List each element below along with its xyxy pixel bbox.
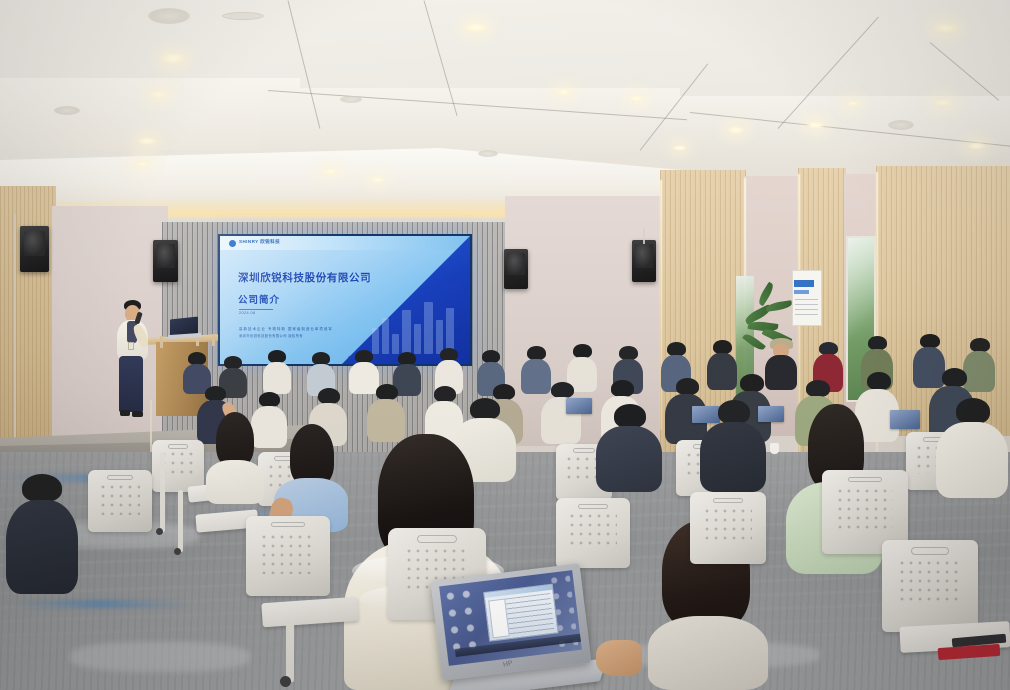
company-logo-icon bbox=[229, 240, 236, 247]
presenter-trousers bbox=[119, 356, 143, 412]
attendee-hair bbox=[740, 374, 764, 392]
downlight bbox=[845, 100, 861, 107]
training-chair[interactable] bbox=[882, 540, 978, 632]
wall-speaker bbox=[504, 249, 528, 289]
application-window[interactable] bbox=[483, 584, 558, 642]
chair-handle bbox=[911, 547, 949, 555]
attendee-hair bbox=[22, 474, 62, 502]
downlight bbox=[370, 177, 385, 183]
downlight bbox=[322, 168, 339, 175]
wall-speaker bbox=[632, 240, 656, 282]
slide-title: 深圳欣锐科技股份有限公司 bbox=[238, 270, 371, 285]
attendee-hair bbox=[470, 398, 500, 420]
wall-speaker bbox=[20, 226, 49, 272]
attendee-top bbox=[596, 426, 662, 492]
hand-on-keyboard bbox=[596, 640, 642, 676]
slide-date: 2024.08 bbox=[239, 311, 256, 315]
ceiling-sensor bbox=[478, 150, 498, 157]
ceiling-sensor bbox=[54, 106, 80, 115]
attendee-hair bbox=[611, 380, 634, 397]
attendee bbox=[700, 400, 766, 492]
attendee-hair bbox=[376, 384, 398, 400]
attendee-long-hair bbox=[206, 412, 264, 504]
attendee-top bbox=[263, 362, 291, 394]
carpet-accent-stripe bbox=[10, 600, 190, 608]
attendee-hair bbox=[259, 392, 280, 407]
presenter-badge bbox=[128, 342, 134, 350]
downlight bbox=[932, 22, 960, 34]
attendee-laptop[interactable] bbox=[890, 410, 920, 429]
carpet-pattern bbox=[70, 642, 250, 672]
attendee-hair bbox=[956, 398, 990, 424]
graphic-bar bbox=[414, 324, 421, 354]
graphic-bar bbox=[382, 318, 389, 354]
chair-handle bbox=[713, 498, 743, 503]
projection-screen: SHINRY 欣锐科技 深圳欣锐科技股份有限公司 公司简介 2024.08 高新… bbox=[218, 234, 472, 366]
training-chair[interactable] bbox=[88, 470, 152, 532]
slide-divider bbox=[239, 309, 273, 310]
slide-building-graphic bbox=[368, 280, 464, 354]
plant-leaf bbox=[766, 300, 793, 312]
attendee-hair bbox=[806, 380, 830, 397]
podium-leg bbox=[160, 336, 163, 348]
training-chair[interactable] bbox=[246, 516, 330, 596]
attendee-hair bbox=[551, 382, 574, 398]
attendee-top bbox=[936, 422, 1008, 498]
attendee-laptop[interactable] bbox=[566, 398, 592, 414]
downlight bbox=[463, 22, 489, 33]
ceiling-speaker-grille bbox=[888, 120, 914, 130]
chair-handle bbox=[417, 535, 456, 543]
hp-logo: HP bbox=[502, 659, 516, 670]
downlight bbox=[727, 126, 745, 134]
presentation-slide: SHINRY 欣锐科技 深圳欣锐科技股份有限公司 公司简介 2024.08 高新… bbox=[220, 236, 470, 364]
chair-handle bbox=[573, 448, 595, 453]
chair-leg bbox=[160, 452, 165, 532]
ceiling-sensor bbox=[340, 96, 362, 103]
attendee-top bbox=[206, 460, 264, 504]
slide-footer-line-1: 高新技术企业 专精特新 国家级制造业单项冠军 bbox=[239, 326, 333, 331]
chair-handle bbox=[107, 475, 133, 480]
downlight bbox=[672, 145, 687, 151]
attendee-hair bbox=[573, 344, 592, 358]
chair-handle bbox=[271, 522, 305, 527]
ceiling-seam bbox=[930, 42, 1000, 101]
downlight bbox=[967, 142, 986, 150]
attendee-hair bbox=[205, 386, 226, 401]
attendee-hair bbox=[920, 334, 940, 348]
panel-light-seam bbox=[660, 180, 662, 430]
chair-leg bbox=[286, 620, 294, 682]
graphic-bar bbox=[402, 310, 411, 354]
attendee-top bbox=[6, 500, 78, 594]
speaker-cable bbox=[14, 214, 16, 464]
attendee-hair bbox=[676, 378, 699, 395]
chair-handle bbox=[578, 504, 608, 509]
speaker-cable bbox=[643, 228, 645, 244]
conference-room-photo: SHINRY 欣锐科技 深圳欣锐科技股份有限公司 公司简介 2024.08 高新… bbox=[0, 0, 1010, 690]
ceiling-panel bbox=[260, 88, 680, 152]
graphic-bar bbox=[392, 334, 399, 354]
attendee bbox=[262, 350, 292, 394]
laptop-screen[interactable] bbox=[439, 570, 582, 666]
attendee-top bbox=[700, 422, 766, 492]
chair-leg bbox=[178, 490, 183, 552]
attendee-hair bbox=[942, 368, 967, 387]
attendee-hair bbox=[718, 400, 750, 424]
attendee-hair bbox=[970, 338, 990, 352]
chair-handle bbox=[168, 444, 189, 449]
attendee-hair bbox=[318, 388, 340, 404]
attendee-hair bbox=[614, 404, 646, 428]
slide-subtitle: 公司简介 bbox=[238, 292, 280, 306]
chair-caster bbox=[174, 548, 181, 555]
attendee-hair bbox=[713, 340, 732, 354]
chair-caster bbox=[156, 528, 163, 535]
attendee-hair bbox=[290, 424, 334, 486]
company-logo-text: SHINRY 欣锐科技 bbox=[239, 239, 280, 245]
attendee-hair bbox=[868, 336, 887, 350]
graphic-bar bbox=[424, 302, 433, 354]
chair-caster bbox=[280, 676, 291, 687]
chair-handle bbox=[848, 477, 882, 482]
attendee bbox=[936, 398, 1008, 498]
attendee-top bbox=[648, 616, 768, 690]
presenter-shoe bbox=[120, 410, 130, 416]
paper-cup bbox=[770, 443, 779, 454]
ceiling-vent bbox=[222, 12, 264, 20]
podium-leg bbox=[212, 334, 215, 346]
downlight bbox=[806, 121, 825, 129]
slide-footer-line-2: 深圳市欣锐科技股份有限公司 版权所有 bbox=[239, 333, 303, 338]
downlight bbox=[628, 95, 645, 102]
foreground-laptop[interactable]: HP bbox=[436, 572, 604, 690]
attendee-hair bbox=[527, 346, 546, 360]
downlight bbox=[555, 88, 573, 96]
attendee bbox=[6, 474, 78, 594]
downlight bbox=[148, 90, 170, 99]
ceiling-speaker-grille bbox=[148, 8, 190, 24]
downlight bbox=[159, 52, 187, 65]
training-chair[interactable] bbox=[690, 492, 766, 564]
attendee-hair bbox=[667, 342, 686, 356]
presenter-shoe bbox=[132, 411, 143, 417]
laptop-lid[interactable]: HP bbox=[430, 563, 591, 681]
downlight bbox=[137, 137, 157, 145]
attendee-hair bbox=[619, 346, 638, 360]
attendee-hair bbox=[867, 372, 891, 390]
wall-speaker bbox=[153, 240, 178, 282]
downlight bbox=[932, 98, 954, 107]
downlight bbox=[133, 160, 152, 168]
training-chair[interactable] bbox=[556, 498, 630, 568]
attendee bbox=[596, 404, 662, 492]
